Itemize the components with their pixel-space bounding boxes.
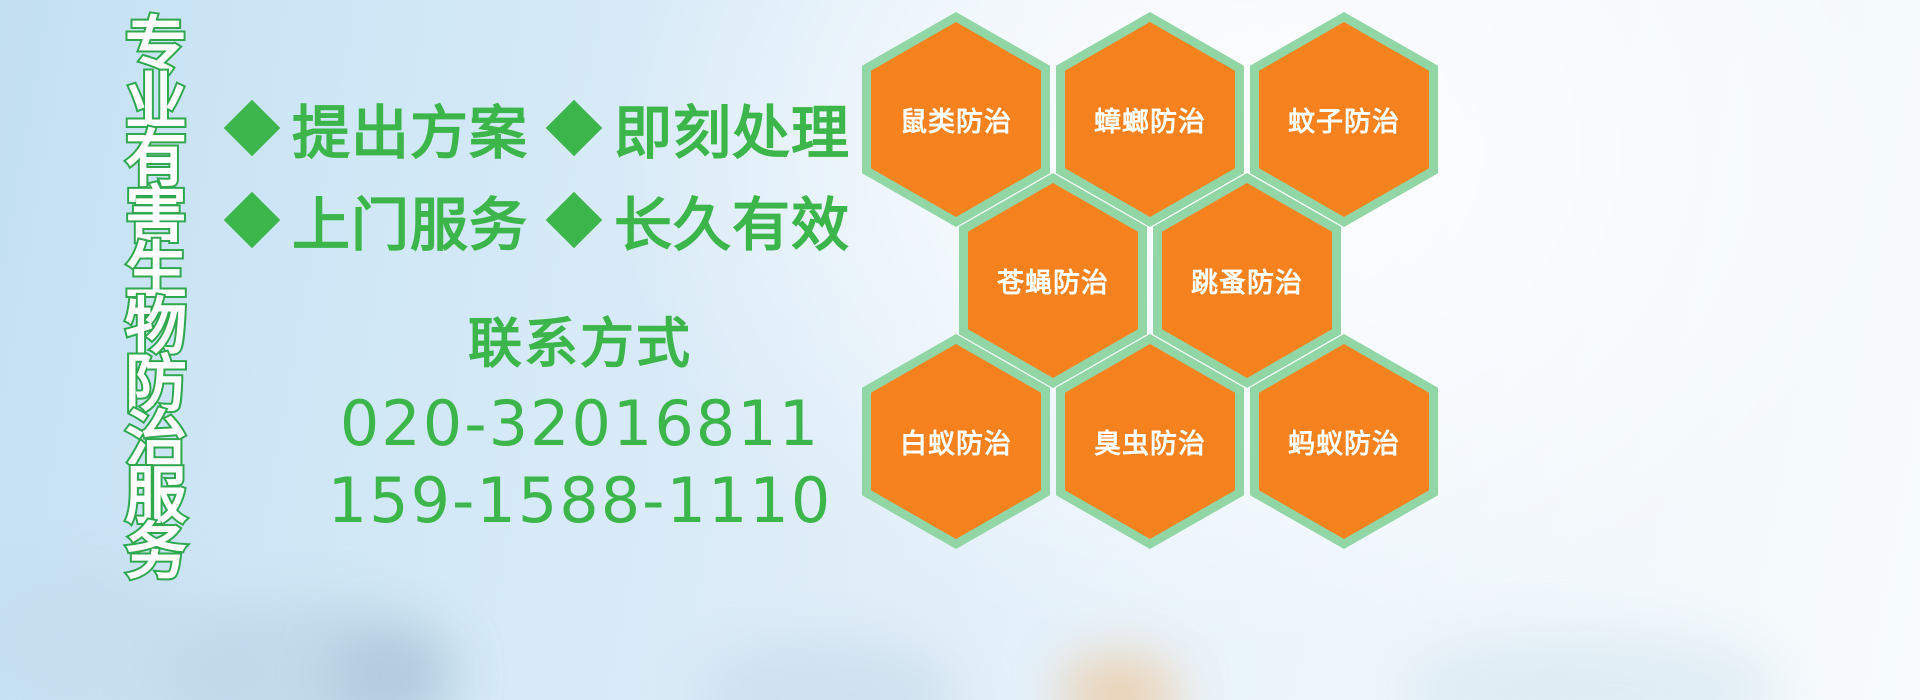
slogan-row: 上门服务 长久有效 (232, 174, 872, 266)
service-hex-label: 蚊子防治 (1288, 100, 1400, 139)
contact-title: 联系方式 (300, 312, 860, 377)
slogan-item: 即刻处理 (614, 86, 850, 170)
diamond-icon (546, 192, 603, 249)
vertical-headline: 专 业 有 害 生 物 防 治 服 务 (104, 18, 208, 581)
service-hex-label: 蟑螂防治 (1094, 100, 1206, 139)
background-blur-shape (1060, 655, 1180, 700)
service-hex-label: 跳蚤防治 (1191, 261, 1303, 300)
vertical-headline-char: 业 (125, 74, 187, 132)
slogan-item: 上门服务 (292, 178, 528, 262)
promo-banner: 专 业 有 害 生 物 防 治 服 务 提出方案 即刻处理 上门服务 长久有效 … (0, 0, 1920, 700)
background-blur-shape (1400, 630, 1780, 700)
background-blur-shape (150, 600, 450, 700)
background-blur-shape (700, 640, 960, 700)
diamond-icon (224, 192, 281, 249)
contact-phone-mobile[interactable]: 159-1588-1110 (300, 462, 860, 540)
diamond-icon (224, 100, 281, 157)
slogan-list: 提出方案 即刻处理 上门服务 长久有效 (232, 82, 872, 266)
service-honeycomb: 鼠类防治 蟑螂防治 蚊子防治 苍蝇防治 跳蚤防治 白蚁防治 臭虫防治 蚂蚁 (862, 0, 1462, 560)
service-hex-label: 白蚁防治 (900, 422, 1012, 461)
background-blur-shape (330, 630, 450, 700)
vertical-headline-char: 务 (125, 524, 187, 582)
slogan-item: 提出方案 (292, 86, 528, 170)
contact-phone-landline[interactable]: 020-32016811 (300, 385, 860, 463)
service-hex-label: 臭虫防治 (1094, 422, 1206, 461)
service-hex-label: 苍蝇防治 (997, 261, 1109, 300)
slogan-item: 长久有效 (614, 178, 850, 262)
vertical-headline-char: 物 (125, 299, 187, 357)
contact-block: 联系方式 020-32016811 159-1588-1110 (300, 312, 860, 540)
service-hex-label: 蚂蚁防治 (1288, 422, 1400, 461)
service-hex-label: 鼠类防治 (900, 100, 1012, 139)
diamond-icon (546, 100, 603, 157)
slogan-row: 提出方案 即刻处理 (232, 82, 872, 174)
